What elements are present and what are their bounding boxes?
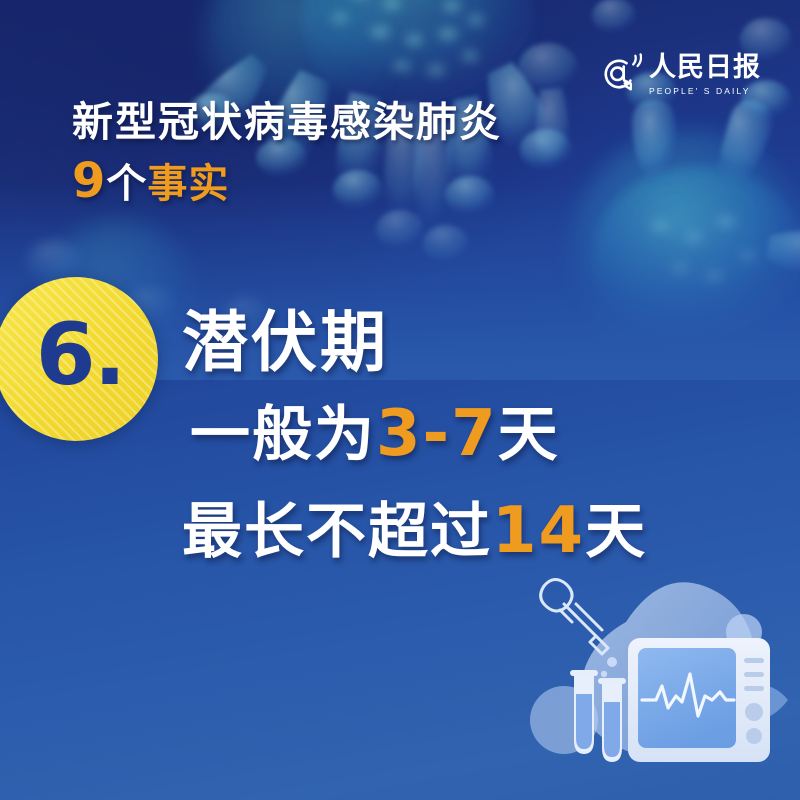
headline-sub-number: 9 [72,153,106,209]
dropper-pipette-icon [541,579,608,654]
headline-main-title: 新型冠状病毒感染肺炎 [72,98,502,146]
logo-brand-cn: 人民日报 [649,52,761,83]
fact-line-2: 一般为3-7天 [190,386,647,483]
fact-line-2-suffix: 天 [498,400,560,470]
fact-number: 6. [36,312,125,398]
headline-sub-mid: 个 [106,161,147,207]
peoples-daily-logo: 人民日报 PEOPLE' S DAILY [596,52,761,98]
at-sign-icon [596,52,642,98]
logo-brand-en: PEOPLE' S DAILY [649,85,761,97]
fact-line-3-prefix: 最长不超过 [182,497,492,567]
vital-signs-monitor-icon [628,638,770,762]
headline-sub-tail: 事实 [147,161,229,207]
headline-subtitle: 9个事实 [72,158,502,207]
fact-title: 潜伏期 [182,300,647,386]
fact-number-badge: 6. [0,277,158,441]
test-tube-icon [570,670,598,754]
facts-block: 潜伏期 一般为3-7天 最长不超过14天 [182,300,647,580]
poster-canvas: 人民日报 PEOPLE' S DAILY 新型冠状病毒感染肺炎 9个事实 6. … [0,0,800,800]
fact-line-2-prefix: 一般为 [190,400,376,470]
fact-line-3-value: 14 [492,494,585,568]
fact-line-3: 最长不超过14天 [182,483,647,580]
test-tube-icon [598,678,626,762]
fact-line-2-value: 3-7 [376,397,498,471]
medical-illustration [530,570,800,800]
headline-block: 新型冠状病毒感染肺炎 9个事实 [72,98,502,207]
wifi-arcs-icon [633,54,641,66]
fact-line-3-suffix: 天 [585,497,647,567]
